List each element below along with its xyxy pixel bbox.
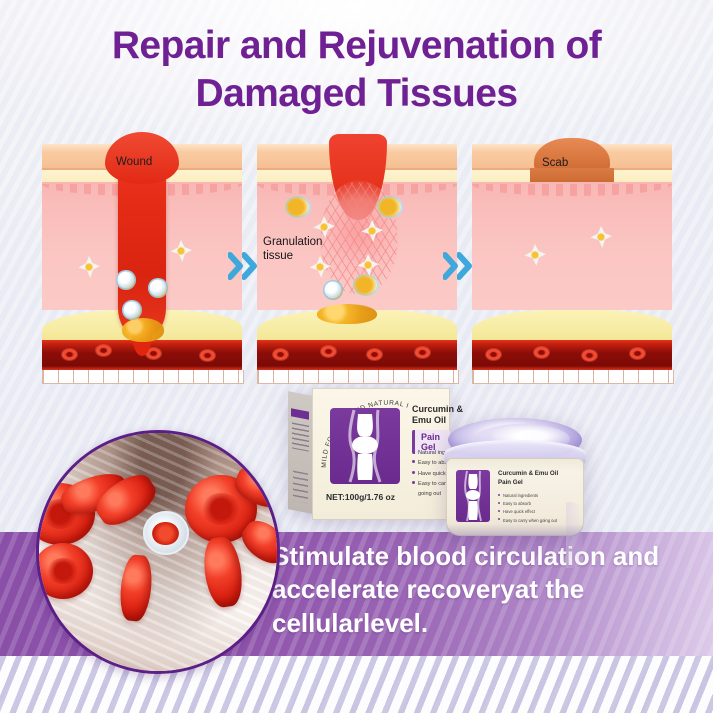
page-title-line2: Damaged Tissues xyxy=(0,70,713,118)
page-title: Repair and Rejuvenation of Damaged Tissu… xyxy=(0,22,713,117)
subcutaneous-fat-layer xyxy=(472,310,672,344)
page-title-line1: Repair and Rejuvenation of xyxy=(112,24,601,67)
product-box-side-barcode xyxy=(293,471,308,504)
macrophage-icon xyxy=(377,196,403,218)
red-blood-cell-icon xyxy=(534,347,549,358)
granulation-label-line1: Granulation xyxy=(263,236,322,248)
platelet-icon xyxy=(116,270,136,290)
arrow-stage2-to-stage3 xyxy=(443,252,477,280)
banner-text-line2: accelerate recoveryat the xyxy=(272,573,692,606)
product-jar: Curcumin & Emu Oil Pain Gel Natural ingr… xyxy=(440,418,590,540)
platelet-icon xyxy=(323,280,343,300)
granulation-tissue-label: Granulation tissue xyxy=(263,236,322,264)
double-chevron-right-icon xyxy=(443,252,458,280)
banner-text-line3: cellularlevel. xyxy=(272,607,692,640)
double-chevron-right-icon xyxy=(228,252,243,280)
red-blood-cell-icon xyxy=(630,348,645,359)
blood-vessel-layer xyxy=(472,340,672,370)
measurement-grid xyxy=(42,370,244,384)
red-blood-cell-icon xyxy=(273,349,288,360)
platelet-icon xyxy=(148,278,168,298)
double-chevron-right-icon xyxy=(242,252,257,280)
jar-product-name-line2: Pain Gel xyxy=(498,479,523,486)
granulation-label-line2: tissue xyxy=(263,250,293,262)
red-blood-cell-icon xyxy=(582,350,597,361)
scab-band xyxy=(530,168,614,182)
box-product-name-line1: Curcumin & xyxy=(412,404,463,414)
jar-side-highlight xyxy=(566,502,582,568)
jar-body-label: Curcumin & Emu Oil Pain Gel Natural ingr… xyxy=(446,458,584,536)
list-item: Natural ingredients xyxy=(498,492,578,500)
platelet-icon xyxy=(122,300,142,320)
measurement-grid xyxy=(257,370,459,384)
product-box-front-panel: MILD FORMULA AND NATURAL INGREDIENTS Cur… xyxy=(312,388,450,520)
skin-diagram-scab: Scab xyxy=(472,144,672,376)
active-ingredient-particle-icon xyxy=(143,511,189,555)
banner-text-line1: Stimulate blood circulation and xyxy=(272,540,692,573)
red-blood-cell-icon xyxy=(62,349,77,360)
red-blood-cell-icon xyxy=(415,347,430,358)
red-blood-cells-microscopy xyxy=(36,430,280,674)
macrophage-icon xyxy=(353,274,379,296)
red-blood-cell-icon xyxy=(200,350,215,361)
arrow-stage1-to-stage2 xyxy=(228,252,262,280)
infographic-canvas: Repair and Rejuvenation of Damaged Tissu… xyxy=(0,0,713,713)
product-box-side-text-lines xyxy=(292,422,309,451)
box-net-weight: NET:100g/1.76 oz xyxy=(326,492,395,502)
clot-cluster xyxy=(317,304,377,324)
banner-text: Stimulate blood circulation and accelera… xyxy=(272,540,692,640)
product-box: MILD FORMULA AND NATURAL INGREDIENTS Cur… xyxy=(288,388,450,520)
wound-healing-diagram-row: Wound xyxy=(0,138,713,378)
red-blood-cell-icon xyxy=(486,349,501,360)
dermis-layer xyxy=(472,182,672,310)
red-blood-cell-icon xyxy=(321,346,336,357)
skin-diagram-wound: Wound xyxy=(42,144,242,376)
skin-diagram-granulation: Granulation tissue xyxy=(257,144,457,376)
double-chevron-right-icon xyxy=(457,252,472,280)
macrophage-icon xyxy=(285,196,311,218)
red-blood-cell-icon xyxy=(96,345,111,356)
wound-label: Wound xyxy=(116,156,152,168)
clot-cluster xyxy=(122,318,164,342)
red-blood-cell-icon xyxy=(367,349,382,360)
knee-joint-logo-icon xyxy=(330,408,400,484)
measurement-grid xyxy=(472,370,674,384)
knee-joint-logo-icon xyxy=(456,470,490,522)
jar-product-name: Curcumin & Emu Oil Pain Gel xyxy=(498,470,572,487)
blood-vessel-layer xyxy=(257,340,457,370)
jar-product-name-line1: Curcumin & Emu Oil xyxy=(498,470,558,477)
scab-label: Scab xyxy=(542,157,568,169)
